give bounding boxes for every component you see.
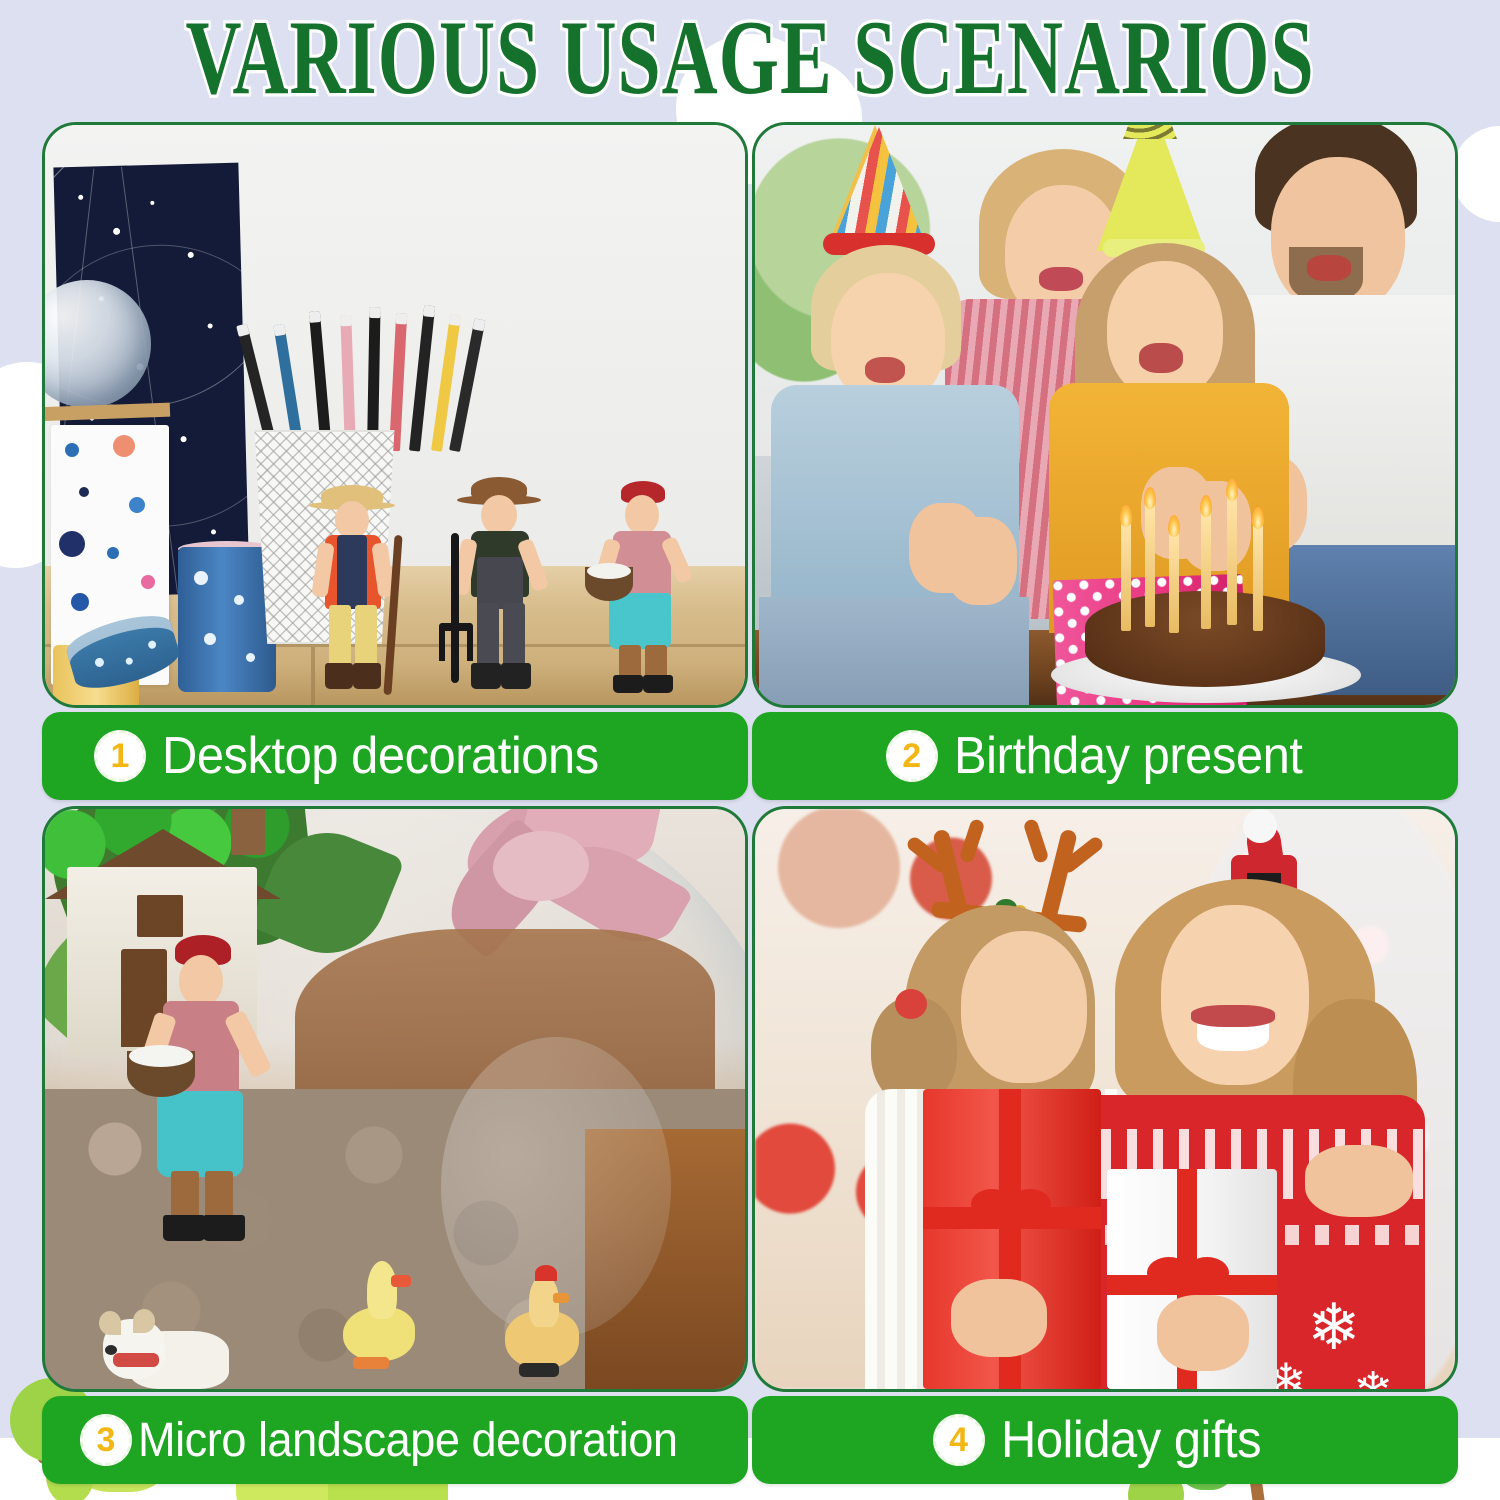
hand-holding-red-gift [951, 1279, 1047, 1357]
scenario-badge-1: 1 [94, 730, 146, 782]
birthday-candle [1169, 533, 1179, 633]
scenario-caption-1: 1 Desktop decorations [42, 712, 748, 800]
scenario-caption-3: 3 Micro landscape decoration [42, 1396, 748, 1484]
figurine-farmer-woman [141, 935, 261, 1265]
page-title: VARIOUS USAGE SCENARIOS [185, 0, 1314, 119]
candle-flame [1252, 507, 1264, 529]
hand-holding-white-gift [1157, 1295, 1249, 1371]
infographic-page: VARIOUS USAGE SCENARIOS [0, 0, 1500, 1500]
scenario-label-1: Desktop decorations [162, 726, 599, 786]
figurine-farmer-overalls [449, 477, 549, 695]
hand-on-shoulder [1305, 1145, 1413, 1217]
figurine-chicken [497, 1271, 583, 1379]
scenario-card-1[interactable]: 1 Desktop decorations [42, 122, 748, 800]
scenario-card-3[interactable]: 3 Micro landscape decoration [42, 806, 748, 1484]
candle-flame [1226, 479, 1238, 501]
figurine-duck [333, 1261, 419, 1371]
birthday-candle [1227, 497, 1237, 625]
scenario-caption-4: 4 Holiday gifts [752, 1396, 1458, 1484]
cloud-decoration-right [1452, 126, 1500, 222]
candle-flame [1200, 495, 1212, 517]
scenario-label-3: Micro landscape decoration [138, 1413, 678, 1468]
blue-polka-dot-cup [178, 547, 276, 692]
scenario-badge-3: 3 [80, 1414, 132, 1466]
page-title-container: VARIOUS USAGE SCENARIOS [0, 0, 1500, 118]
scenario-photo-1 [42, 122, 748, 708]
candle-flame [1168, 515, 1180, 537]
candle-flame [1120, 505, 1132, 527]
birthday-candle [1201, 513, 1211, 629]
birthday-candle [1121, 523, 1131, 631]
scenario-card-4[interactable]: ❄ ❄ ❄ ❄ [752, 806, 1458, 1484]
birthday-candle [1253, 525, 1263, 631]
scenario-badge-2: 2 [886, 730, 938, 782]
person-boy [777, 187, 1027, 707]
figurine-dog [103, 1309, 233, 1392]
birthday-candle [1145, 505, 1155, 627]
scenario-label-2: Birthday present [954, 726, 1302, 786]
scenario-photo-4: ❄ ❄ ❄ ❄ [752, 806, 1458, 1392]
scenario-card-2[interactable]: 2 Birthday present [752, 122, 1458, 800]
candle-flame [1144, 487, 1156, 509]
scenario-badge-4: 4 [933, 1414, 985, 1466]
party-hat-yellow [1097, 122, 1205, 251]
scenario-caption-2: 2 Birthday present [752, 712, 1458, 800]
scenario-photo-2 [752, 122, 1458, 708]
scenario-photo-3 [42, 806, 748, 1392]
figurine-farmer-woman [593, 481, 689, 695]
cottage-chimney [231, 806, 265, 855]
scenario-label-4: Holiday gifts [1001, 1410, 1261, 1470]
scenario-grid: 1 Desktop decorations [42, 122, 1458, 1460]
figurine-farmer-orange [303, 485, 399, 695]
